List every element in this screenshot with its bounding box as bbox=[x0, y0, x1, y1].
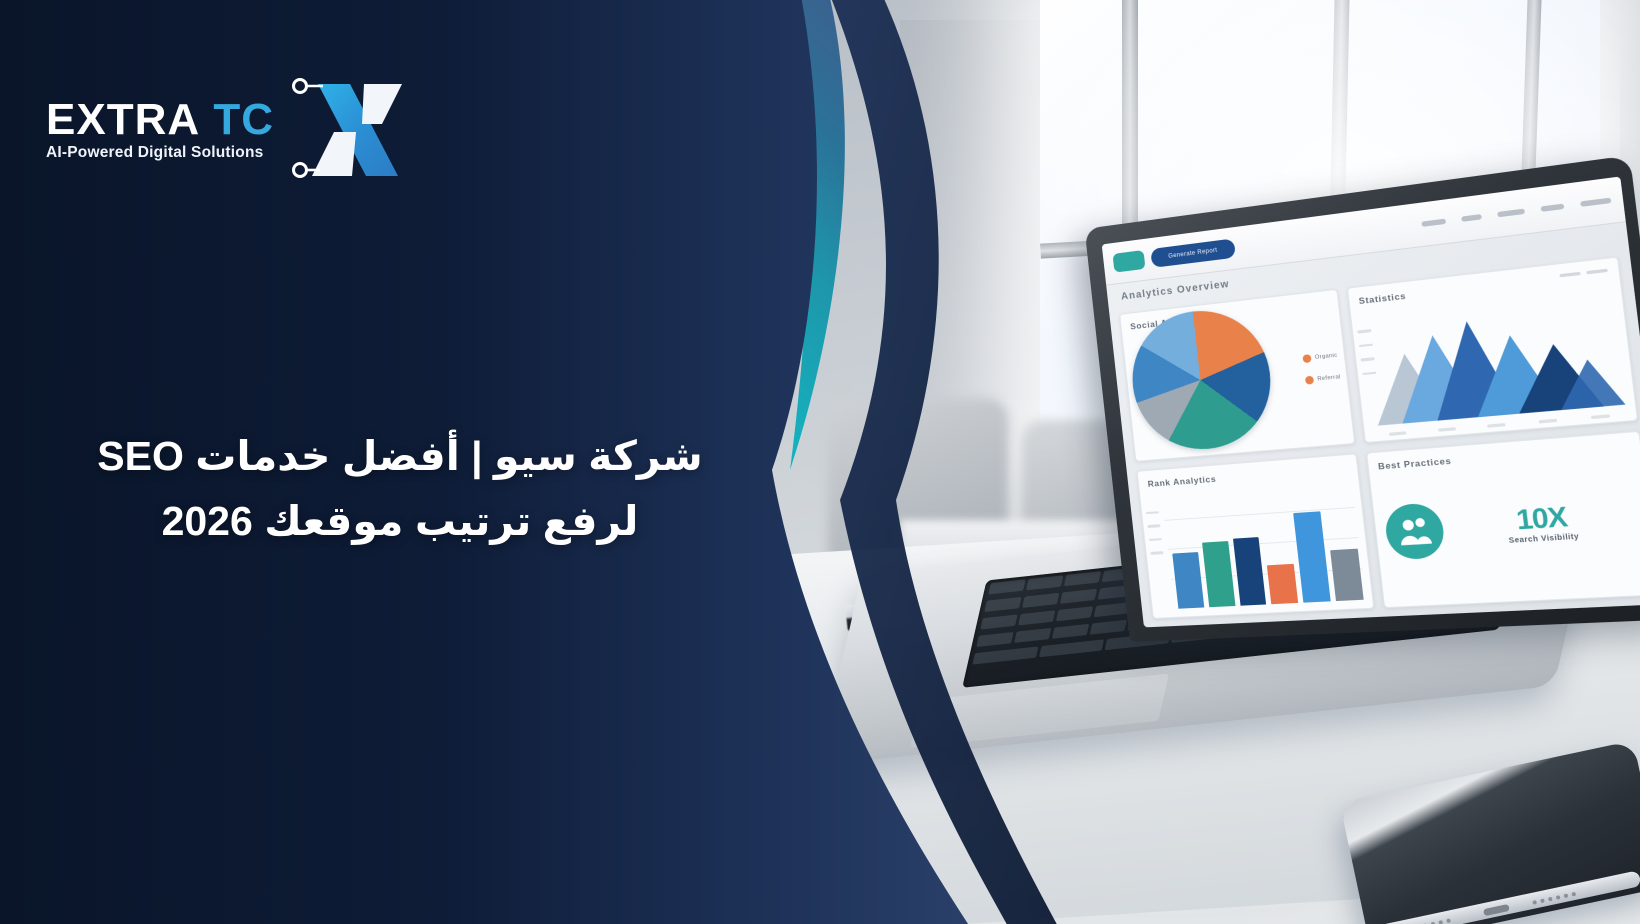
dashboard-nav[interactable] bbox=[1421, 198, 1611, 227]
brand-logo[interactable]: EXTRA TC AI-Powered Digital Solutions bbox=[46, 72, 416, 182]
area-chart bbox=[1358, 298, 1627, 426]
legend-label: Organic bbox=[1315, 352, 1338, 360]
seo-banner-hero: Generate Report Analytics Overview Stati… bbox=[0, 0, 1640, 924]
growth-row: 10X Search Visibility bbox=[1379, 454, 1640, 594]
legend-dot-icon bbox=[1302, 354, 1311, 363]
brand-name: EXTRA TC bbox=[46, 98, 274, 142]
card-statistics[interactable]: Statistics bbox=[1346, 256, 1638, 442]
users-group-icon bbox=[1383, 502, 1446, 560]
chart-y-axis bbox=[1146, 511, 1163, 555]
growth-metric: 10X Search Visibility bbox=[1447, 498, 1640, 549]
dashboard-grid: Statistics bbox=[1119, 256, 1640, 619]
extra-tc-x-logo-icon bbox=[290, 72, 416, 182]
legend-label: Referral bbox=[1317, 374, 1341, 382]
legend-dot-icon bbox=[1304, 376, 1313, 385]
generate-report-button[interactable]: Generate Report bbox=[1150, 238, 1236, 268]
card-rank-analytics[interactable]: Rank Analytics bbox=[1136, 453, 1374, 619]
brand-tagline: AI-Powered Digital Solutions bbox=[46, 144, 274, 162]
brand-wordmark: EXTRA TC AI-Powered Digital Solutions bbox=[46, 92, 274, 162]
bar-chart bbox=[1168, 501, 1363, 608]
headline-line-2: لرفع ترتيب موقعك 2026 bbox=[70, 489, 730, 554]
laptop-trackpad[interactable] bbox=[910, 673, 1169, 747]
headline-line-1: شركة سيو | أفضل خدمات SEO bbox=[70, 424, 730, 489]
laptop-lid: Generate Report Analytics Overview Stati… bbox=[1085, 155, 1640, 642]
card-title: Rank Analytics bbox=[1147, 463, 1347, 488]
card-growth[interactable]: Best Practices 10X Search Visibility bbox=[1366, 430, 1640, 608]
card-social-audits[interactable]: Social Audits Organic bbox=[1119, 289, 1355, 462]
laptop-screen: Generate Report Analytics Overview Stati… bbox=[1102, 176, 1640, 627]
legend-item: Referral bbox=[1304, 373, 1341, 385]
export-icon[interactable] bbox=[1112, 250, 1145, 273]
dashboard-title: Analytics Overview bbox=[1121, 279, 1231, 303]
legend-item: Organic bbox=[1302, 351, 1339, 363]
brand-name-primary: EXTRA bbox=[46, 95, 200, 144]
dashboard-actions: Generate Report bbox=[1112, 238, 1235, 272]
page-title: شركة سيو | أفضل خدمات SEO لرفع ترتيب موق… bbox=[70, 424, 730, 554]
brand-name-secondary: TC bbox=[213, 95, 274, 144]
laptop: Generate Report Analytics Overview Stati… bbox=[862, 222, 1640, 782]
pie-chart bbox=[1126, 303, 1278, 454]
pie-legend: Organic Referral bbox=[1302, 351, 1341, 384]
